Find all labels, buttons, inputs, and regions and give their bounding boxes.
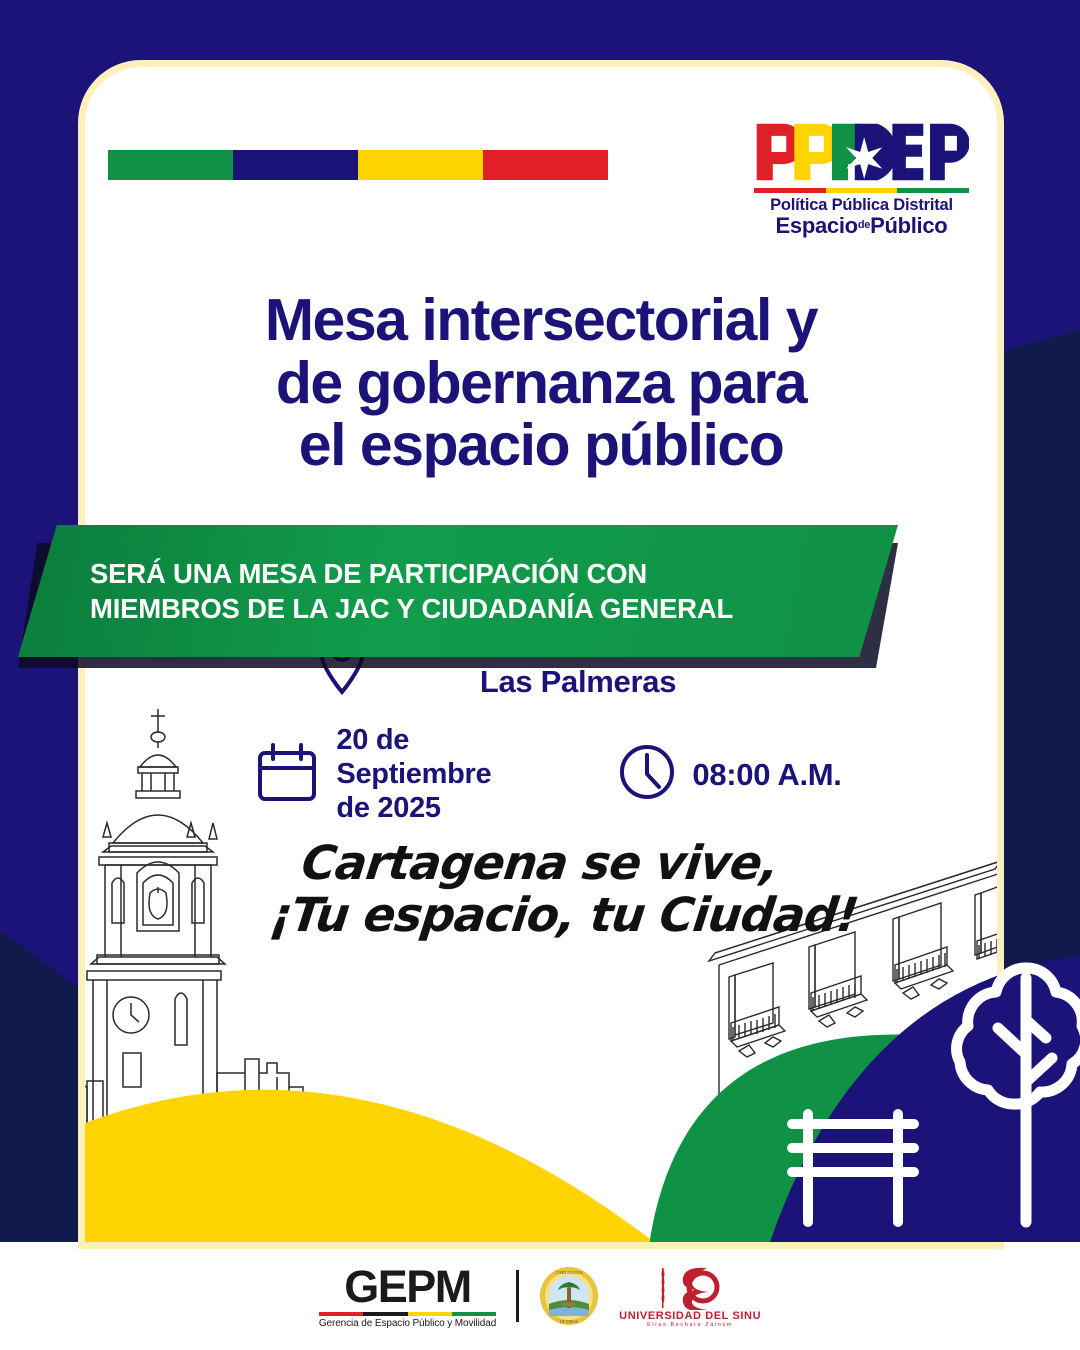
title-line-2: de gobernanza para bbox=[85, 352, 997, 415]
date-group: 20 de Septiembre de 2025 bbox=[256, 724, 566, 826]
slogan-line-1: Cartagena se vive, bbox=[0, 838, 1080, 890]
ppdep-espacio: Espacio bbox=[776, 213, 858, 238]
footer-logos: GEPM Gerencia de Espacio Público y Movil… bbox=[0, 1242, 1080, 1350]
footer-divider bbox=[516, 1270, 519, 1322]
svg-text:CARTAGENA: CARTAGENA bbox=[556, 1270, 584, 1275]
gepm-logo: GEPM Gerencia de Espacio Público y Movil… bbox=[319, 1264, 496, 1329]
highlight-banner-wrap: SERÁ UNA MESA DE PARTICIPACIÓN CON MIEMB… bbox=[0, 525, 1080, 675]
banner-line-1: SERÁ UNA MESA DE PARTICIPACIÓN CON bbox=[90, 556, 733, 591]
title-line-3: el espacio público bbox=[85, 414, 997, 477]
sinu-name: UNIVERSIDAD DEL SINU bbox=[619, 1310, 761, 1322]
banner-text: SERÁ UNA MESA DE PARTICIPACIÓN CON MIEMB… bbox=[18, 556, 733, 626]
color-bar-green bbox=[108, 150, 233, 180]
clock-icon bbox=[618, 743, 676, 806]
universidad-del-sinu-logo: UNIVERSIDAD DEL SINU Elías Bechara Zainú… bbox=[619, 1264, 761, 1328]
gepm-wordmark: GEPM bbox=[319, 1264, 496, 1309]
date-time-row: 20 de Septiembre de 2025 08:00 A.M. bbox=[0, 724, 1080, 826]
date-text: 20 de Septiembre de 2025 bbox=[336, 724, 566, 826]
ppdep-line1: Política Pública Distrital bbox=[754, 196, 969, 214]
ppdep-logo: Política Pública Distrital EspaciodePúbl… bbox=[754, 119, 969, 238]
color-bar-navy bbox=[233, 150, 358, 180]
cartagena-seal-icon: CARTAGENA DE INDIAS bbox=[539, 1266, 599, 1326]
ppdep-publico: Público bbox=[870, 213, 947, 238]
date-line-1: 20 de Septiembre bbox=[336, 724, 566, 792]
slogan: Cartagena se vive, ¡Tu espacio, tu Ciuda… bbox=[0, 838, 1080, 941]
title-line-1: Mesa intersectorial y bbox=[85, 289, 997, 352]
ppdep-line2: EspaciodePúblico bbox=[754, 214, 969, 238]
color-bar-red bbox=[483, 150, 608, 180]
gepm-rule bbox=[319, 1312, 496, 1316]
calendar-icon bbox=[256, 741, 318, 808]
color-bar-yellow bbox=[358, 150, 483, 180]
time-text: 08:00 A.M. bbox=[692, 757, 841, 793]
highlight-banner: SERÁ UNA MESA DE PARTICIPACIÓN CON MIEMB… bbox=[18, 525, 898, 657]
ppdep-wordmark-icon bbox=[754, 119, 969, 185]
park-icons bbox=[660, 942, 1080, 1242]
date-line-2: de 2025 bbox=[336, 792, 566, 826]
banner-line-2: MIEMBROS DE LA JAC Y CIUDADANÍA GENERAL bbox=[90, 591, 733, 626]
ppdep-de: de bbox=[858, 219, 870, 231]
sinu-mark-icon bbox=[647, 1264, 733, 1310]
slogan-line-2: ¡Tu espacio, tu Ciudad! bbox=[21, 890, 1080, 942]
sinu-subtitle: Elías Bechara Zainúm bbox=[647, 1322, 733, 1328]
svg-text:DE INDIAS: DE INDIAS bbox=[560, 1320, 578, 1324]
gepm-subtitle: Gerencia de Espacio Público y Movilidad bbox=[319, 1318, 496, 1329]
time-group: 08:00 A.M. bbox=[618, 743, 841, 806]
ppdep-rule bbox=[754, 188, 969, 193]
page-title: Mesa intersectorial y de gobernanza para… bbox=[85, 289, 997, 477]
top-color-bar bbox=[108, 150, 608, 180]
shape-yellow bbox=[85, 1090, 650, 1242]
